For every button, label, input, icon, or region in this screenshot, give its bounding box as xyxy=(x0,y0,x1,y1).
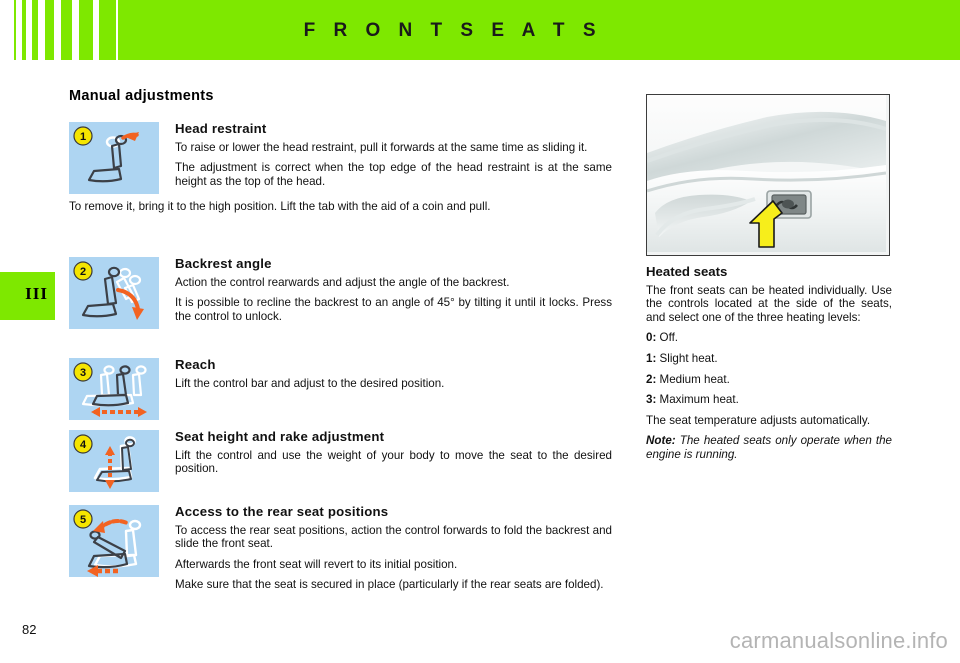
seat-height-rake-heading: Seat height and rake adjustment xyxy=(175,430,612,444)
page-number: 82 xyxy=(22,622,36,637)
heating-level-2-text: Medium heat. xyxy=(660,373,730,386)
seat-height-rake-text: Seat height and rake adjustment Lift the… xyxy=(175,430,612,476)
heating-level-3-text: Maximum heat. xyxy=(660,393,739,406)
heating-level-0-text: Off. xyxy=(660,331,678,344)
header-stripe-7 xyxy=(99,0,116,60)
backrest-angle-text: Backrest angle Action the control rearwa… xyxy=(175,257,612,323)
section-heading-manual-adjustments: Manual adjustments xyxy=(69,88,214,104)
heating-level-3: 3: Maximum heat. xyxy=(646,393,892,407)
svg-text:4: 4 xyxy=(80,439,87,451)
backrest-angle-para-1: Action the control rearwards and adjust … xyxy=(175,276,612,290)
site-watermark: carmanualsonline.info xyxy=(730,628,948,654)
reach-heading: Reach xyxy=(175,358,612,372)
chapter-tab-label: III xyxy=(25,284,48,304)
heated-seats-heading: Heated seats xyxy=(646,265,892,279)
heated-seats-closing: The seat temperature adjusts automatical… xyxy=(646,414,892,428)
seat-head-restraint-icon: 1 xyxy=(69,122,159,194)
heated-seats-note: Note: The heated seats only operate when… xyxy=(646,434,892,461)
heating-level-1: 1: Slight heat. xyxy=(646,352,892,366)
heating-level-0: 0: Off. xyxy=(646,331,892,345)
rear-seat-access-heading: Access to the rear seat positions xyxy=(175,505,612,519)
rear-seat-access-para-3: Make sure that the seat is secured in pl… xyxy=(175,578,612,592)
seat-side-control-photo xyxy=(646,94,890,256)
heating-level-1-value: 1: xyxy=(646,352,656,365)
heating-level-3-value: 3: xyxy=(646,393,656,406)
seat-height-rake-icon: 4 xyxy=(69,430,159,492)
header-stripe-3 xyxy=(32,0,38,60)
header-stripe-6 xyxy=(79,0,93,60)
seat-backrest-angle-icon: 2 xyxy=(69,257,159,329)
page-header: F R O N T S E A T S xyxy=(0,0,960,60)
head-restraint-para-2: The adjustment is correct when the top e… xyxy=(175,161,612,188)
header-stripe-group xyxy=(0,0,120,60)
backrest-angle-para-2: It is possible to recline the backrest t… xyxy=(175,296,612,323)
head-restraint-text: Head restraint To raise or lower the hea… xyxy=(175,122,612,188)
heating-level-2: 2: Medium heat. xyxy=(646,373,892,387)
heating-level-0-value: 0: xyxy=(646,331,656,344)
header-stripe-1 xyxy=(14,0,16,60)
seat-height-rake-para-1: Lift the control and use the weight of y… xyxy=(175,449,612,476)
header-stripe-5 xyxy=(61,0,72,60)
rear-seat-access-text: Access to the rear seat positions To acc… xyxy=(175,505,612,592)
svg-text:1: 1 xyxy=(80,131,86,143)
heating-level-2-value: 2: xyxy=(646,373,656,386)
heated-seats-intro: The front seats can be heated individual… xyxy=(646,284,892,325)
heated-seats-note-label: Note: xyxy=(646,434,676,447)
reach-para-1: Lift the control bar and adjust to the d… xyxy=(175,377,612,391)
heating-level-1-text: Slight heat. xyxy=(660,352,718,365)
rear-seat-access-para-1: To access the rear seat positions, actio… xyxy=(175,524,612,551)
header-stripe-4 xyxy=(45,0,54,60)
head-restraint-para-1: To raise or lower the head restraint, pu… xyxy=(175,141,612,155)
heated-seats-note-text: The heated seats only operate when the e… xyxy=(646,434,892,461)
rear-seat-access-para-2: Afterwards the front seat will revert to… xyxy=(175,558,612,572)
seat-rear-access-icon: 5 xyxy=(69,505,159,577)
seat-reach-icon: 3 xyxy=(69,358,159,420)
backrest-angle-heading: Backrest angle xyxy=(175,257,612,271)
head-restraint-heading: Head restraint xyxy=(175,122,612,136)
svg-text:3: 3 xyxy=(80,367,86,379)
page-title: F R O N T S E A T S xyxy=(304,20,602,42)
svg-text:5: 5 xyxy=(80,514,86,526)
chapter-tab: III xyxy=(0,272,55,320)
heated-seats-section: Heated seats The front seats can be heat… xyxy=(646,265,892,462)
svg-text:2: 2 xyxy=(80,266,86,278)
reach-text: Reach Lift the control bar and adjust to… xyxy=(175,358,612,390)
head-restraint-overflow-para: To remove it, bring it to the high posit… xyxy=(69,200,614,214)
header-stripe-2 xyxy=(22,0,26,60)
